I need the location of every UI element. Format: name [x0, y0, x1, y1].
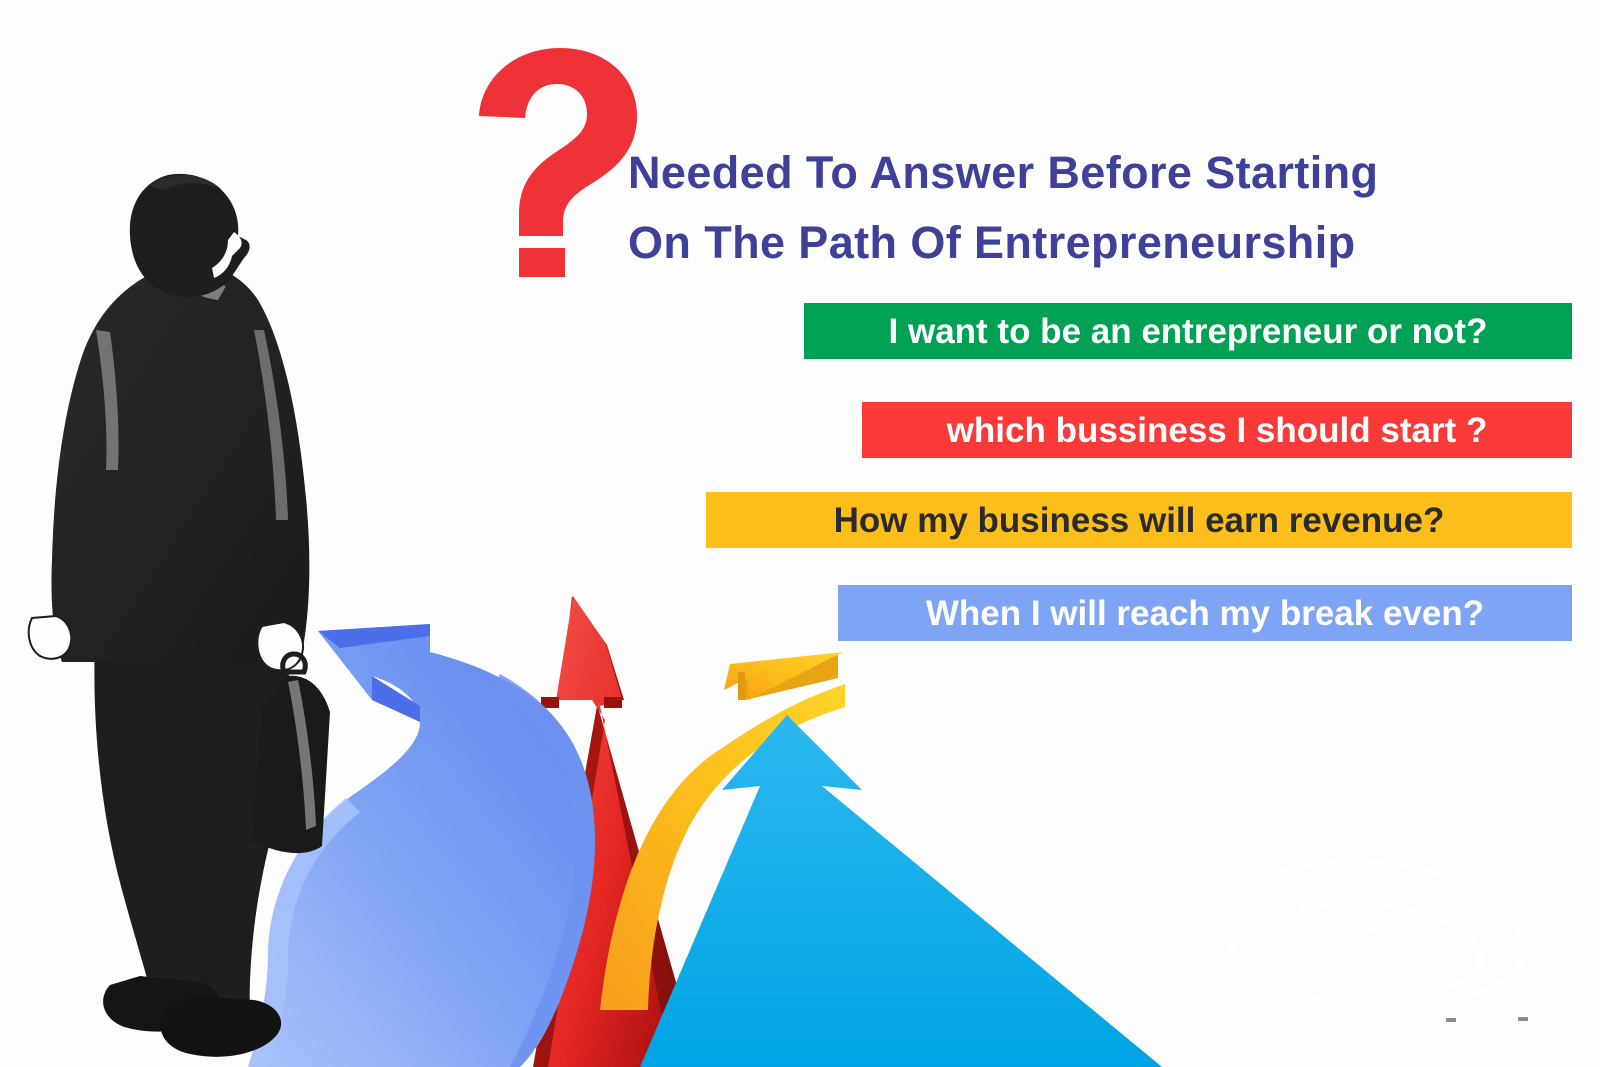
question-bar-label: I want to be an entrepreneur or not?: [804, 314, 1572, 349]
question-bar-label: When I will reach my break even?: [838, 596, 1572, 631]
page-title: Needed To Answer Before Starting On The …: [628, 138, 1558, 278]
headline-line-1: Needed To Answer Before Starting: [628, 138, 1558, 208]
businessman-figure-icon: [29, 174, 330, 1057]
blue-curving-arrow-icon: [248, 624, 595, 1067]
red-straight-arrow-icon: [533, 596, 700, 1067]
question-bar-revenue: How my business will earn revenue?: [706, 492, 1572, 548]
question-bar-entrepreneur: I want to be an entrepreneur or not?: [804, 303, 1572, 359]
headline-line-2: On The Path Of Entrepreneurship: [628, 208, 1558, 278]
yellow-curving-arrow-icon: [600, 652, 845, 1010]
watermark-decoration: [1226, 862, 1528, 1022]
question-bar-label: which bussiness I should start ?: [862, 413, 1572, 448]
question-mark-icon: [463, 42, 643, 277]
question-bar-which-business: which bussiness I should start ?: [862, 402, 1572, 458]
question-bar-label: How my business will earn revenue?: [706, 503, 1572, 538]
cyan-triangle-arrow-icon: [640, 715, 1162, 1067]
poster-canvas: Needed To Answer Before Starting On The …: [0, 0, 1600, 1067]
question-bar-break-even: When I will reach my break even?: [838, 585, 1572, 641]
